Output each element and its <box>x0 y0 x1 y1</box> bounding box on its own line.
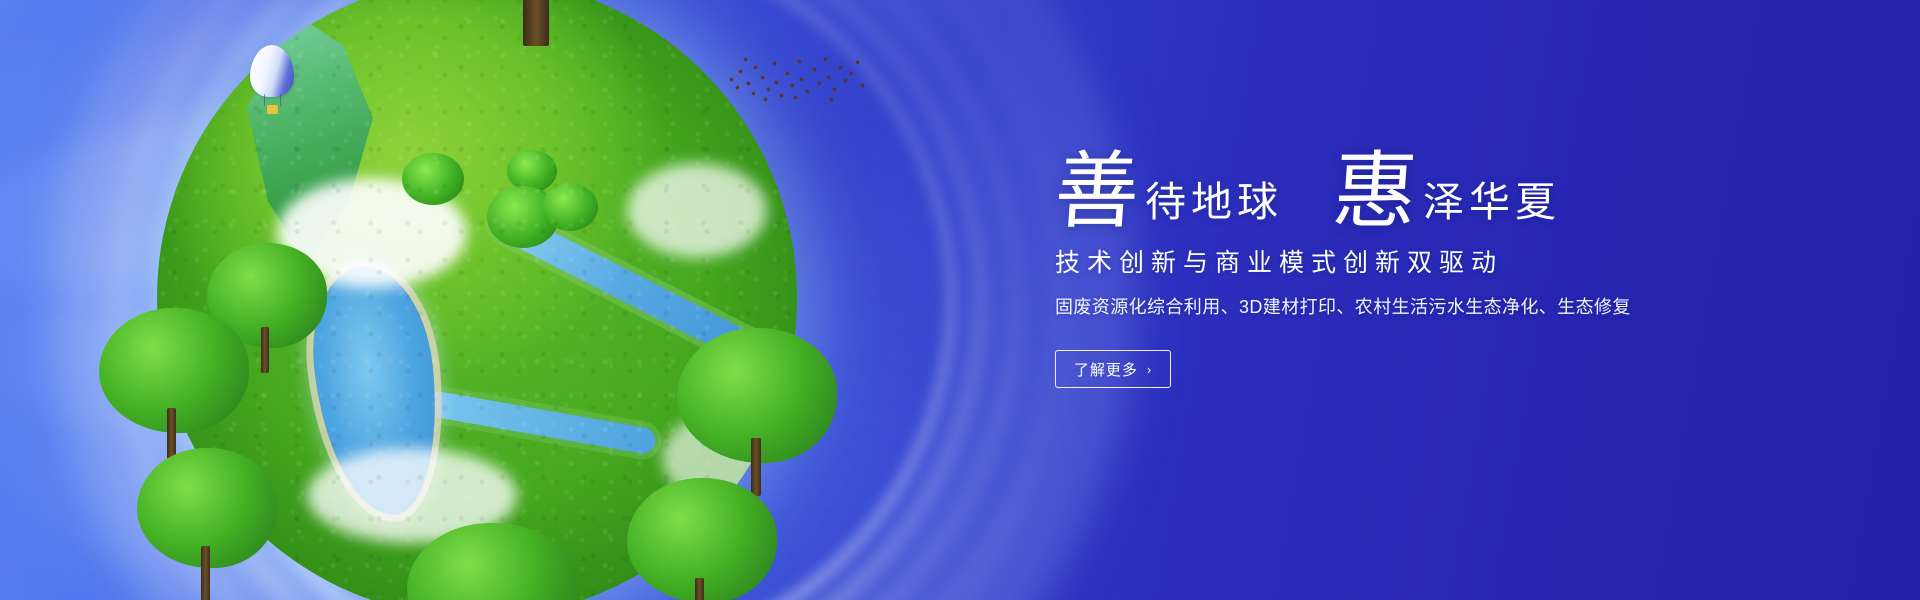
tree-icon <box>397 0 697 18</box>
learn-more-label: 了解更多 <box>1074 359 1138 380</box>
shrub-icon <box>542 183 598 231</box>
shrub-icon <box>507 150 557 192</box>
balloon-basket <box>267 105 278 114</box>
headline-big-char-2: 惠 <box>1330 153 1419 230</box>
tree-trunk <box>201 546 210 600</box>
hero-description: 固废资源化综合利用、3D建材打印、农村生活污水生态净化、生态修复 <box>1055 295 1695 320</box>
tree-trunk <box>523 0 549 46</box>
tree-icon <box>677 328 837 493</box>
hero-copy: 善 待地球 惠 泽华夏 技术创新与商业模式创新双驱动 固废资源化综合利用、3D建… <box>1055 128 1695 388</box>
headline-small-chars-1: 待地球 <box>1145 182 1283 223</box>
tree-trunk <box>261 327 269 373</box>
tree-icon <box>627 478 777 600</box>
hot-air-balloon-icon <box>250 45 294 117</box>
hero-subtitle: 技术创新与商业模式创新双驱动 <box>1055 248 1695 279</box>
bird-flock-icon <box>728 48 868 100</box>
balloon-envelope <box>250 45 294 97</box>
tree-crown <box>407 523 577 600</box>
shrub-icon <box>487 186 559 248</box>
tree-icon <box>137 448 277 598</box>
river <box>407 386 658 455</box>
tree-icon <box>407 523 577 600</box>
shrub-icon <box>402 153 464 205</box>
headline-big-char-1: 善 <box>1052 153 1141 230</box>
learn-more-button[interactable]: 了解更多 › <box>1055 350 1171 388</box>
page-title: 善 待地球 惠 泽华夏 <box>1055 128 1695 230</box>
headline-small-chars-2: 泽华夏 <box>1423 182 1561 223</box>
hero-banner: 善 待地球 惠 泽华夏 技术创新与商业模式创新双驱动 固废资源化综合利用、3D建… <box>0 0 1920 600</box>
chevron-right-icon: › <box>1147 363 1152 376</box>
cloud-patch-icon <box>627 163 767 258</box>
tree-trunk <box>695 578 704 600</box>
tree-icon <box>99 308 249 458</box>
